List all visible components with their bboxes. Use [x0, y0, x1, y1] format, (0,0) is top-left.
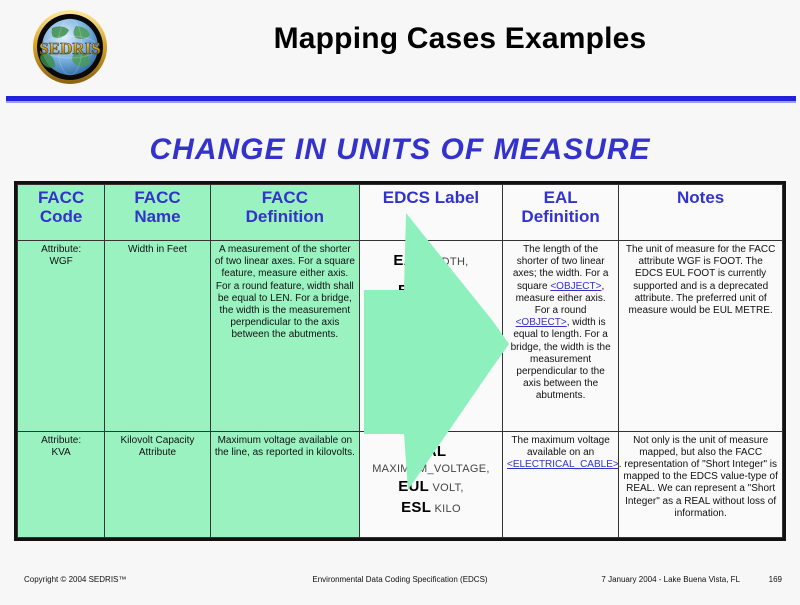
- header-line-1: FACC: [215, 188, 355, 207]
- table-row: Attribute: WGF Width in Feet A measureme…: [18, 241, 783, 432]
- cell-facc-name: Kilovolt Capacity Attribute: [105, 431, 211, 537]
- text-run: .: [619, 459, 622, 470]
- edcs-label-kind: ESL: [401, 499, 431, 516]
- column-header-facc-name: FACC Name: [105, 185, 211, 241]
- edcs-label-value: KILO: [431, 503, 461, 515]
- edcs-label-value: VOLT,: [429, 482, 464, 494]
- edcs-label-line: EUL VOLT,: [364, 478, 498, 496]
- logo-wordmark: SEDRIS: [39, 39, 100, 58]
- cell-facc-definition: Maximum voltage available on the line, a…: [210, 431, 359, 537]
- edcs-concept-link[interactable]: <OBJECT>: [516, 317, 567, 328]
- header-line-1: EAL: [507, 188, 614, 207]
- header-line-1: EDCS Label: [364, 188, 498, 207]
- eal-definition-text: The maximum voltage available on an <ELE…: [507, 435, 614, 472]
- header-line-1: FACC: [109, 188, 206, 207]
- section-subtitle: CHANGE IN UNITS OF MEASURE: [0, 133, 800, 167]
- footer-page-number: 169: [769, 575, 782, 584]
- edcs-label-line: MAXIMUM_VOLTAGE,: [364, 463, 498, 476]
- table-header-row: FACC Code FACC Name FACC Definition EDCS…: [18, 185, 783, 241]
- column-header-facc-definition: FACC Definition: [210, 185, 359, 241]
- edcs-concept-link[interactable]: <ELECTRICAL_CABLE>: [507, 459, 619, 470]
- cell-edcs-label: EAL WIDTH,EUL FOOTESL UNI: [359, 241, 502, 432]
- cell-facc-code: Attribute: KVA: [18, 431, 105, 537]
- edcs-label-kind: EAL: [393, 252, 424, 269]
- facc-code-line-1: Attribute:: [22, 244, 100, 256]
- header-line-2: Code: [22, 207, 100, 226]
- header-line-2: Definition: [215, 207, 355, 226]
- header-line-2: Definition: [507, 207, 614, 226]
- edcs-label-list: EAL WIDTH,EUL FOOTESL UNI: [364, 244, 498, 331]
- cell-facc-code: Attribute: WGF: [18, 241, 105, 432]
- header-rule-shadow: [6, 101, 796, 103]
- edcs-label-line: ESL UNI: [364, 313, 498, 331]
- edcs-label-value: WIDTH,: [424, 256, 468, 268]
- edcs-label-line: EAL: [364, 443, 498, 461]
- facc-code-line-2: KVA: [22, 447, 100, 459]
- edcs-label-value: UNI: [434, 317, 457, 329]
- page-title: Mapping Cases Examples: [150, 22, 770, 56]
- text-run: , width is equal to length. For a bridge…: [511, 317, 611, 401]
- edcs-label-list: EALMAXIMUM_VOLTAGE,EUL VOLT,ESL KILO: [364, 435, 498, 517]
- edcs-concept-link[interactable]: <OBJECT>: [550, 281, 601, 292]
- eal-definition-text: The length of the shorter of two linear …: [507, 244, 614, 402]
- mapping-cases-table: FACC Code FACC Name FACC Definition EDCS…: [14, 181, 786, 541]
- column-header-facc-code: FACC Code: [18, 185, 105, 241]
- footer-event: 7 January 2004 - Lake Buena Vista, FL: [601, 575, 740, 584]
- column-header-edcs-label: EDCS Label: [359, 185, 502, 241]
- edcs-label-kind: ESL: [404, 313, 434, 330]
- cell-edcs-label: EALMAXIMUM_VOLTAGE,EUL VOLT,ESL KILO: [359, 431, 502, 537]
- cell-notes: The unit of measure for the FACC attribu…: [619, 241, 783, 432]
- header-line-2: Name: [109, 207, 206, 226]
- text-run: The maximum voltage available on an: [511, 435, 609, 458]
- edcs-label-value: MAXIMUM_VOLTAGE,: [372, 463, 489, 475]
- edcs-label-value: FOOT: [429, 286, 464, 298]
- edcs-label-kind: EAL: [416, 443, 447, 460]
- cell-eal-definition: The length of the shorter of two linear …: [502, 241, 618, 432]
- header-line-1: Notes: [623, 188, 778, 207]
- facc-code-line-2: WGF: [22, 256, 100, 268]
- edcs-label-kind: EUL: [398, 282, 429, 299]
- cell-eal-definition: The maximum voltage available on an <ELE…: [502, 431, 618, 537]
- edcs-label-line: ESL KILO: [364, 499, 498, 517]
- header-line-1: FACC: [22, 188, 100, 207]
- table-row: Attribute: KVA Kilovolt Capacity Attribu…: [18, 431, 783, 537]
- column-header-notes: Notes: [619, 185, 783, 241]
- edcs-label-line: EAL WIDTH,: [364, 252, 498, 270]
- cell-facc-name: Width in Feet: [105, 241, 211, 432]
- slide-footer: Copyright © 2004 SEDRIS™ Environmental D…: [0, 572, 800, 592]
- edcs-label-line: EUL FOOT: [364, 282, 498, 300]
- cell-notes: Not only is the unit of measure mapped, …: [619, 431, 783, 537]
- slide: SEDRIS Mapping Cases Examples CHANGE IN …: [0, 0, 800, 600]
- column-header-eal-definition: EAL Definition: [502, 185, 618, 241]
- edcs-label-kind: EUL: [398, 478, 429, 495]
- slide-header: SEDRIS Mapping Cases Examples: [0, 0, 800, 96]
- cell-facc-definition: A measurement of the shorter of two line…: [210, 241, 359, 432]
- sedris-globe-logo: SEDRIS: [22, 8, 118, 86]
- facc-code-line-1: Attribute:: [22, 435, 100, 447]
